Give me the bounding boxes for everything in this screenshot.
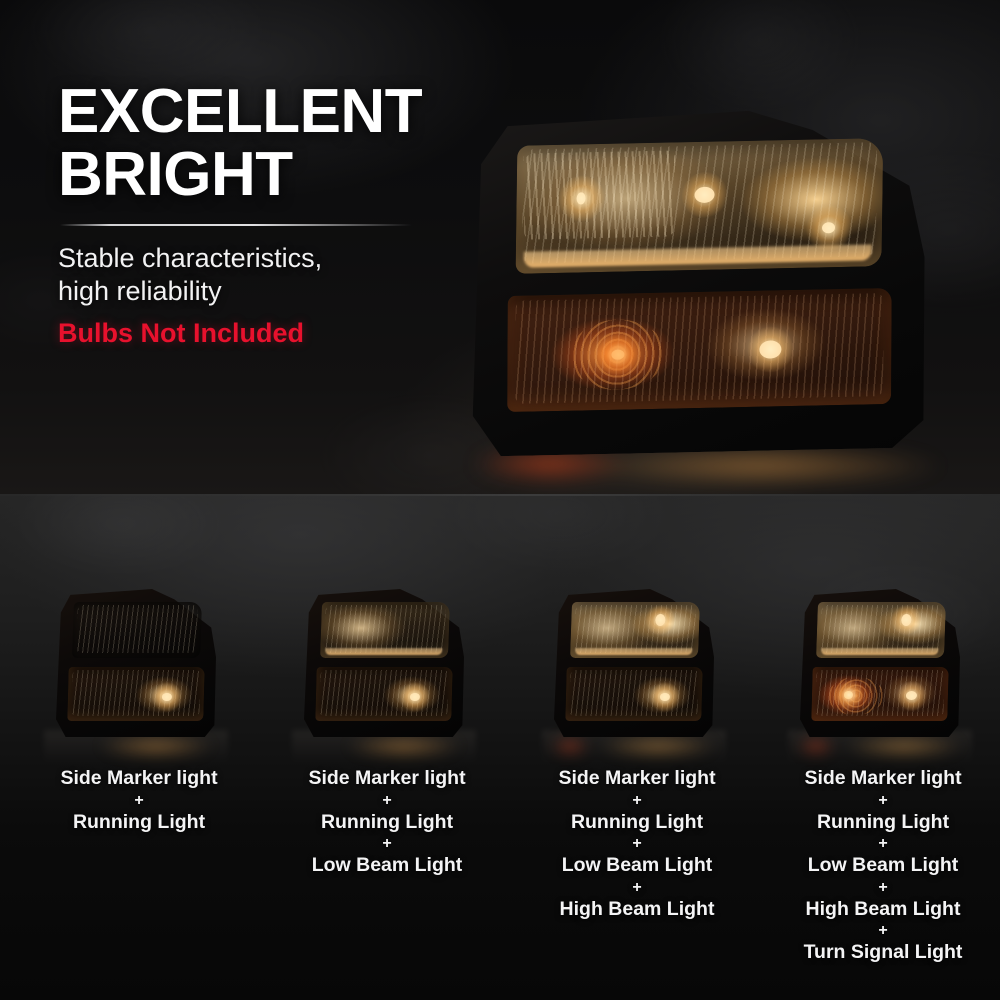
lower-turn-signal-lens: [811, 667, 948, 721]
caption-line: Side Marker light: [758, 766, 1000, 792]
lens-flutes: [76, 605, 198, 653]
subtitle-line-1: Stable characteristics,: [58, 243, 322, 273]
bulb-icon: [901, 614, 911, 626]
caption-line: Running Light: [758, 810, 1000, 836]
plus-separator: +: [512, 879, 762, 897]
lower-turn-signal-lens: [507, 288, 892, 412]
bulb-icon: [759, 340, 781, 358]
cell-caption-2: Side Marker light + Running Light + Low …: [262, 766, 512, 879]
plus-separator: +: [262, 792, 512, 810]
lower-turn-signal-lens: [67, 667, 204, 721]
upper-headlamp-lens: [816, 602, 946, 658]
caption-line: Low Beam Light: [262, 853, 512, 879]
headline-line-2: BRIGHT: [58, 143, 488, 206]
light-mode-cell-4: Side Marker light + Running Light + Low …: [758, 494, 1000, 1000]
title-divider: [60, 224, 412, 226]
cell-caption-1: Side Marker light + Running Light: [14, 766, 264, 835]
bulb-icon: [906, 691, 917, 700]
lens-bottom-lip: [325, 648, 442, 655]
hero-copy-block: EXCELLENT BRIGHT Stable characteristics,…: [58, 80, 488, 350]
bulb-icon: [611, 350, 624, 360]
headlight-unit: [554, 589, 714, 737]
caption-line: High Beam Light: [512, 897, 762, 923]
headline-line-1: EXCELLENT: [58, 77, 422, 146]
hero-headlight-assembly: [466, 107, 928, 456]
hero-subtitle: Stable characteristics, high reliability: [58, 242, 488, 308]
bulb-icon: [822, 222, 835, 233]
upper-headlamp-lens: [320, 602, 450, 658]
plus-separator: +: [758, 835, 1000, 853]
headlight-unit: [304, 589, 464, 737]
lens-flutes: [820, 605, 942, 653]
bulb-icon: [162, 693, 172, 701]
caption-line: Low Beam Light: [512, 853, 762, 879]
hero-panel: EXCELLENT BRIGHT Stable characteristics,…: [0, 0, 1000, 494]
caption-line: Turn Signal Light: [758, 940, 1000, 966]
caption-line: Side Marker light: [14, 766, 264, 792]
light-mode-cell-1: Side Marker light + Running Light: [14, 494, 264, 1000]
headlight-unit: [800, 589, 960, 737]
headlight-unit: [56, 589, 216, 737]
plus-separator: +: [14, 792, 264, 810]
lens-bottom-lip: [821, 648, 938, 655]
bulb-icon: [655, 614, 665, 626]
subtitle-line-2: high reliability: [58, 275, 488, 308]
bulbs-not-included-notice: Bulbs Not Included: [58, 317, 488, 350]
light-mode-cells: Side Marker light + Running Light: [0, 494, 1000, 1000]
plus-separator: +: [758, 922, 1000, 940]
cell-caption-3: Side Marker light + Running Light + Low …: [512, 766, 762, 922]
bulb-icon: [576, 192, 585, 204]
page-title: EXCELLENT BRIGHT: [58, 80, 488, 206]
plus-separator: +: [758, 792, 1000, 810]
upper-headlamp-lens: [516, 138, 884, 274]
caption-line: Low Beam Light: [758, 853, 1000, 879]
bulb-icon: [660, 693, 670, 701]
plus-separator: +: [512, 835, 762, 853]
caption-line: Running Light: [512, 810, 762, 836]
bulb-icon: [844, 691, 853, 699]
lens-flutes: [324, 605, 446, 653]
lens-bottom-lip: [575, 648, 692, 655]
cell-caption-4: Side Marker light + Running Light + Low …: [758, 766, 1000, 966]
caption-line: Side Marker light: [512, 766, 762, 792]
light-mode-cell-2: Side Marker light + Running Light + Low …: [262, 494, 512, 1000]
plus-separator: +: [262, 835, 512, 853]
light-modes-panel: Side Marker light + Running Light: [0, 494, 1000, 1000]
caption-line: Running Light: [14, 810, 264, 836]
lower-turn-signal-lens: [565, 667, 702, 721]
bulb-icon: [694, 187, 714, 203]
upper-headlamp-lens: [72, 602, 202, 658]
lens-flutes: [574, 605, 696, 653]
plus-separator: +: [512, 792, 762, 810]
caption-line: High Beam Light: [758, 897, 1000, 923]
light-mode-cell-3: Side Marker light + Running Light + Low …: [512, 494, 762, 1000]
caption-line: Side Marker light: [262, 766, 512, 792]
lower-turn-signal-lens: [315, 667, 452, 721]
product-feature-graphic: EXCELLENT BRIGHT Stable characteristics,…: [0, 0, 1000, 1000]
upper-headlamp-lens: [570, 602, 700, 658]
caption-line: Running Light: [262, 810, 512, 836]
bulb-icon: [410, 693, 420, 701]
plus-separator: +: [758, 879, 1000, 897]
